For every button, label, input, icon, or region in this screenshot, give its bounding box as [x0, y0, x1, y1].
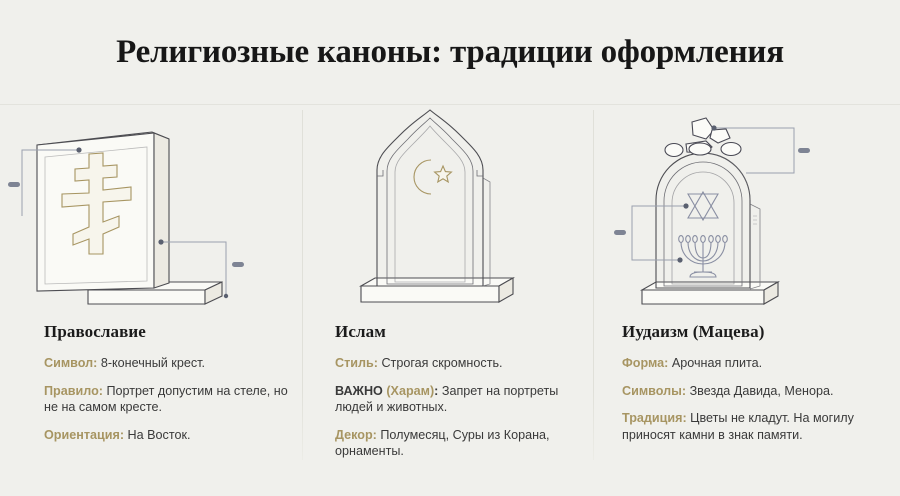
- leader-line-symbols: [614, 203, 689, 262]
- orthodox-fact-orientation: Ориентация: На Восток.: [44, 427, 294, 444]
- page-title: Религиозные каноны: традиции оформления: [116, 34, 784, 71]
- islam-illustration: [303, 108, 593, 320]
- orthodox-fact-orientation-label: Ориентация:: [44, 428, 124, 442]
- islam-text-block: Ислам Стиль: Строгая скромность. ВАЖНО (…: [303, 322, 585, 460]
- judaism-fact-tradition-label: Традиция:: [622, 411, 687, 425]
- islam-fact-style-label: Стиль:: [335, 356, 378, 370]
- islam-fact-decor: Декор: Полумесяц, Суры из Корана, орнаме…: [335, 427, 585, 460]
- infographic-page: Религиозные каноны: традиции оформления: [0, 0, 900, 496]
- orthodox-fact-rule-label: Правило:: [44, 384, 103, 398]
- arched-matzevah: [656, 153, 760, 289]
- column-islam: Ислам Стиль: Строгая скромность. ВАЖНО (…: [303, 108, 593, 496]
- orthodox-fact-rule: Правило: Портрет допустим на стеле, но н…: [44, 383, 294, 416]
- judaism-fact-tradition: Традиция: Цветы не кладут. На могилу при…: [622, 410, 892, 443]
- orthodox-fact-symbol-label: Символ:: [44, 356, 97, 370]
- islam-fact-haram: ВАЖНО (Харам): Запрет на портреты людей …: [335, 383, 585, 416]
- islam-fact-style-value: Строгая скромность.: [381, 356, 502, 370]
- column-orthodox: Православие Символ: 8-конечный крест. Пр…: [0, 108, 302, 496]
- islam-fact-decor-label: Декор:: [335, 428, 377, 442]
- pedestal: [642, 282, 778, 304]
- judaism-fact-form-value: Арочная плита.: [672, 356, 762, 370]
- judaism-fact-form: Форма: Арочная плита.: [622, 355, 892, 372]
- crescent-and-star-symbol: [414, 160, 451, 194]
- orthodox-text-block: Православие Символ: 8-конечный крест. Пр…: [0, 322, 294, 443]
- orthodox-fact-symbol-value: 8-конечный крест.: [101, 356, 205, 370]
- judaism-title: Иудаизм (Мацева): [622, 322, 892, 342]
- islam-fact-haram-label-colon: :: [434, 384, 438, 398]
- star-of-david-symbol: [688, 192, 718, 220]
- judaism-fact-symbols: Символы: Звезда Давида, Менора.: [622, 383, 892, 400]
- orthodox-fact-orientation-value: На Восток.: [128, 428, 191, 442]
- orthodox-illustration: [0, 108, 302, 320]
- memorial-stones: [665, 118, 741, 157]
- islam-fact-style: Стиль: Строгая скромность.: [335, 355, 585, 372]
- ogee-arch-stele: [377, 110, 490, 286]
- islam-title: Ислам: [335, 322, 585, 342]
- header-divider: [0, 104, 900, 105]
- judaism-text-block: Иудаизм (Мацева) Форма: Арочная плита. С…: [594, 322, 892, 443]
- judaism-fact-symbols-label: Символы:: [622, 384, 686, 398]
- islam-fact-haram-label: ВАЖНО: [335, 384, 383, 398]
- menorah-symbol: [679, 236, 728, 277]
- orthodox-fact-symbol: Символ: 8-конечный крест.: [44, 355, 294, 372]
- judaism-fact-symbols-value: Звезда Давида, Менора.: [690, 384, 834, 398]
- judaism-fact-form-label: Форма:: [622, 356, 668, 370]
- islam-fact-haram-label-paren: (Харам): [386, 384, 434, 398]
- header: Религиозные каноны: традиции оформления: [0, 0, 900, 105]
- orthodox-title: Православие: [44, 322, 294, 342]
- judaism-illustration: [594, 108, 900, 320]
- menorah-flames: [679, 236, 728, 243]
- column-judaism: Иудаизм (Мацева) Форма: Арочная плита. С…: [594, 108, 900, 496]
